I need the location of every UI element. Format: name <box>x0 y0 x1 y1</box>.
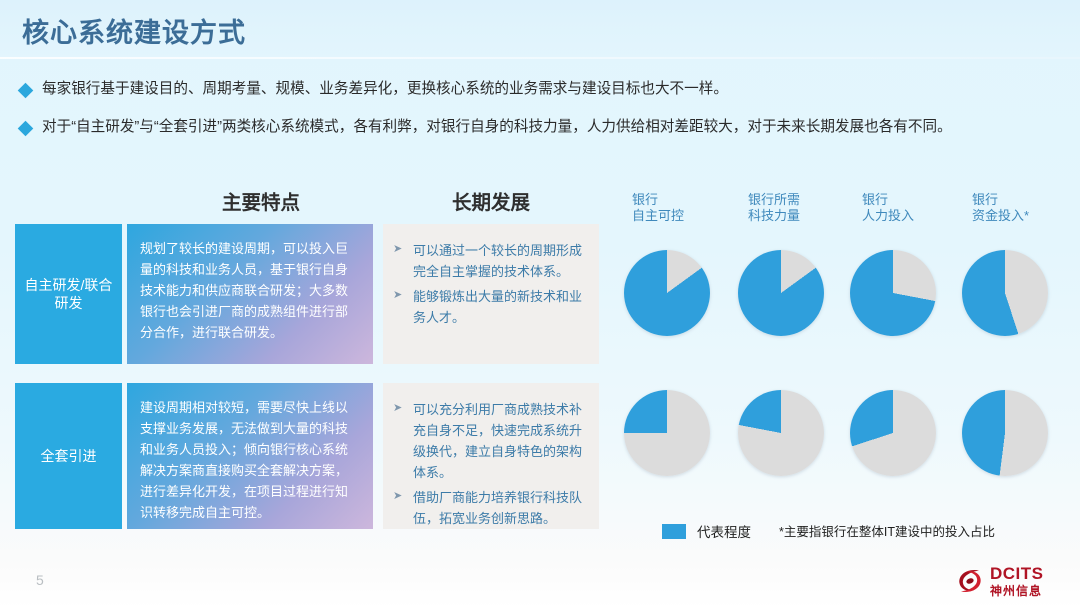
longterm-list-item: ➤ 借助厂商能力培养银行科技队伍，拓宽业务创新思路。 <box>393 487 587 529</box>
dcits-logo-en: DCITS <box>990 565 1044 582</box>
title-divider <box>0 57 1080 59</box>
pie-column-header-2: 银行 人力投入 <box>862 192 914 224</box>
row-features-cell-1: 建设周期相对较短，需要尽快上线以支撑业务发展，无法做到大量的科技和业务人员投入；… <box>127 383 373 529</box>
pie-chart-r0c2 <box>850 250 936 336</box>
legend-label: 代表程度 <box>697 521 751 541</box>
bullet-item: 对于“自主研发”与“全套引进”两类核心系统模式，各有利弊，对银行自身的科技力量，… <box>20 118 1065 138</box>
slide-root: 核心系统建设方式 每家银行基于建设目的、周期考量、规模、业务差异化，更换核心系统… <box>0 0 1080 608</box>
pie-column-header-0: 银行 自主可控 <box>632 192 684 224</box>
row-label-cell-0: 自主研发/联合研发 <box>15 224 122 364</box>
legend-swatch-icon <box>662 524 686 539</box>
chart-footnote: *主要指银行在整体IT建设中的投入占比 <box>779 521 995 540</box>
longterm-text: 可以通过一个较长的周期形成完全自主掌握的技术体系。 <box>413 240 587 282</box>
pie-header-line2: 人力投入 <box>862 208 914 224</box>
page-number: 5 <box>36 572 44 588</box>
diamond-bullet-icon <box>18 83 34 99</box>
pie-chart-r1c0 <box>624 390 710 476</box>
dcits-logo: DCITS 神州信息 <box>955 565 1044 597</box>
pie-header-line2: 自主可控 <box>632 208 684 224</box>
diamond-bullet-icon <box>18 120 34 136</box>
pie-header-line1: 银行所需 <box>748 192 800 208</box>
row-longterm-cell-0: ➤ 可以通过一个较长的周期形成完全自主掌握的技术体系。 ➤ 能够锻炼出大量的新技… <box>383 224 599 364</box>
pie-column-header-3: 银行 资金投入* <box>972 192 1029 224</box>
column-header-features: 主要特点 <box>222 186 300 215</box>
arrow-bullet-icon: ➤ <box>393 491 406 502</box>
pie-header-line2: 资金投入* <box>972 208 1029 224</box>
longterm-text: 可以充分利用厂商成熟技术补充自身不足，快速完成系统升级换代，建立自身特色的架构体… <box>413 399 587 483</box>
pie-chart-r1c1 <box>738 390 824 476</box>
pie-header-line1: 银行 <box>972 192 1029 208</box>
pie-header-line1: 银行 <box>862 192 914 208</box>
arrow-bullet-icon: ➤ <box>393 403 406 414</box>
arrow-bullet-icon: ➤ <box>393 244 406 255</box>
pie-chart-r0c0 <box>624 250 710 336</box>
row-features-cell-0: 规划了较长的建设周期，可以投入巨量的科技和业务人员，基于银行自身技术能力和供应商… <box>127 224 373 364</box>
column-header-longterm: 长期发展 <box>452 186 530 215</box>
row-longterm-cell-1: ➤ 可以充分利用厂商成熟技术补充自身不足，快速完成系统升级换代，建立自身特色的架… <box>383 383 599 529</box>
page-title: 核心系统建设方式 <box>22 11 246 50</box>
arrow-bullet-icon: ➤ <box>393 290 406 301</box>
pie-chart-r0c3 <box>962 250 1048 336</box>
longterm-list-item: ➤ 可以充分利用厂商成熟技术补充自身不足，快速完成系统升级换代，建立自身特色的架… <box>393 399 587 483</box>
row-label-cell-1: 全套引进 <box>15 383 122 529</box>
pie-chart-r1c2 <box>850 390 936 476</box>
chart-legend: 代表程度 <box>662 521 751 541</box>
pie-column-header-1: 银行所需 科技力量 <box>748 192 800 224</box>
longterm-text: 借助厂商能力培养银行科技队伍，拓宽业务创新思路。 <box>413 487 587 529</box>
longterm-list-item: ➤ 能够锻炼出大量的新技术和业务人才。 <box>393 286 587 328</box>
pie-header-line2: 科技力量 <box>748 208 800 224</box>
bullet-text: 每家银行基于建设目的、周期考量、规模、业务差异化，更换核心系统的业务需求与建设目… <box>42 80 728 100</box>
pie-chart-r1c3 <box>962 390 1048 476</box>
bullet-text: 对于“自主研发”与“全套引进”两类核心系统模式，各有利弊，对银行自身的科技力量，… <box>42 118 952 138</box>
longterm-list-item: ➤ 可以通过一个较长的周期形成完全自主掌握的技术体系。 <box>393 240 587 282</box>
bullet-list: 每家银行基于建设目的、周期考量、规模、业务差异化，更换核心系统的业务需求与建设目… <box>20 80 1065 155</box>
dcits-swirl-icon <box>955 566 985 596</box>
pie-chart-r0c1 <box>738 250 824 336</box>
longterm-text: 能够锻炼出大量的新技术和业务人才。 <box>413 286 587 328</box>
dcits-logo-cn: 神州信息 <box>990 585 1044 597</box>
bullet-item: 每家银行基于建设目的、周期考量、规模、业务差异化，更换核心系统的业务需求与建设目… <box>20 80 1065 100</box>
dcits-logo-text: DCITS 神州信息 <box>990 565 1044 597</box>
pie-header-line1: 银行 <box>632 192 684 208</box>
